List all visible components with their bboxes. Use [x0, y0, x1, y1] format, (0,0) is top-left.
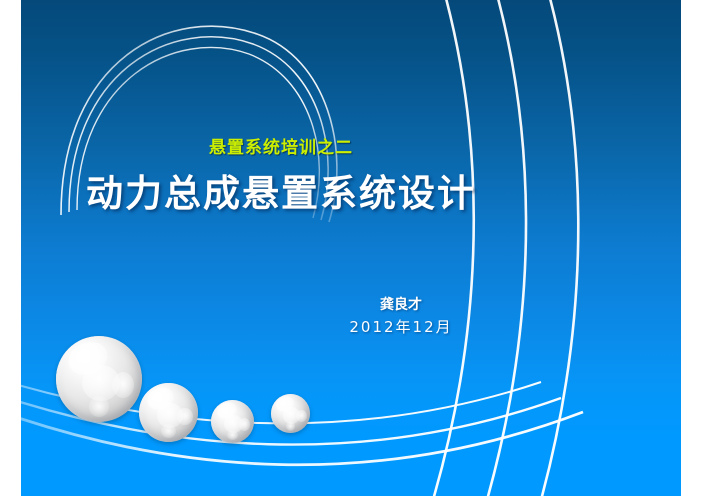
slide-main-title: 动力总成悬置系统设计	[21, 163, 541, 217]
slide-author: 龚良才	[301, 294, 501, 314]
title-text-block: 悬置系统培训之二 动力总成悬置系统设计 龚良才 2012年12月	[21, 0, 681, 496]
slide-canvas: 悬置系统培训之二 动力总成悬置系统设计 龚良才 2012年12月	[21, 0, 681, 496]
slide-date: 2012年12月	[301, 316, 501, 337]
slide-subtitle: 悬置系统培训之二	[21, 133, 541, 158]
presentation-title-slide: 悬置系统培训之二 动力总成悬置系统设计 龚良才 2012年12月	[0, 0, 702, 496]
